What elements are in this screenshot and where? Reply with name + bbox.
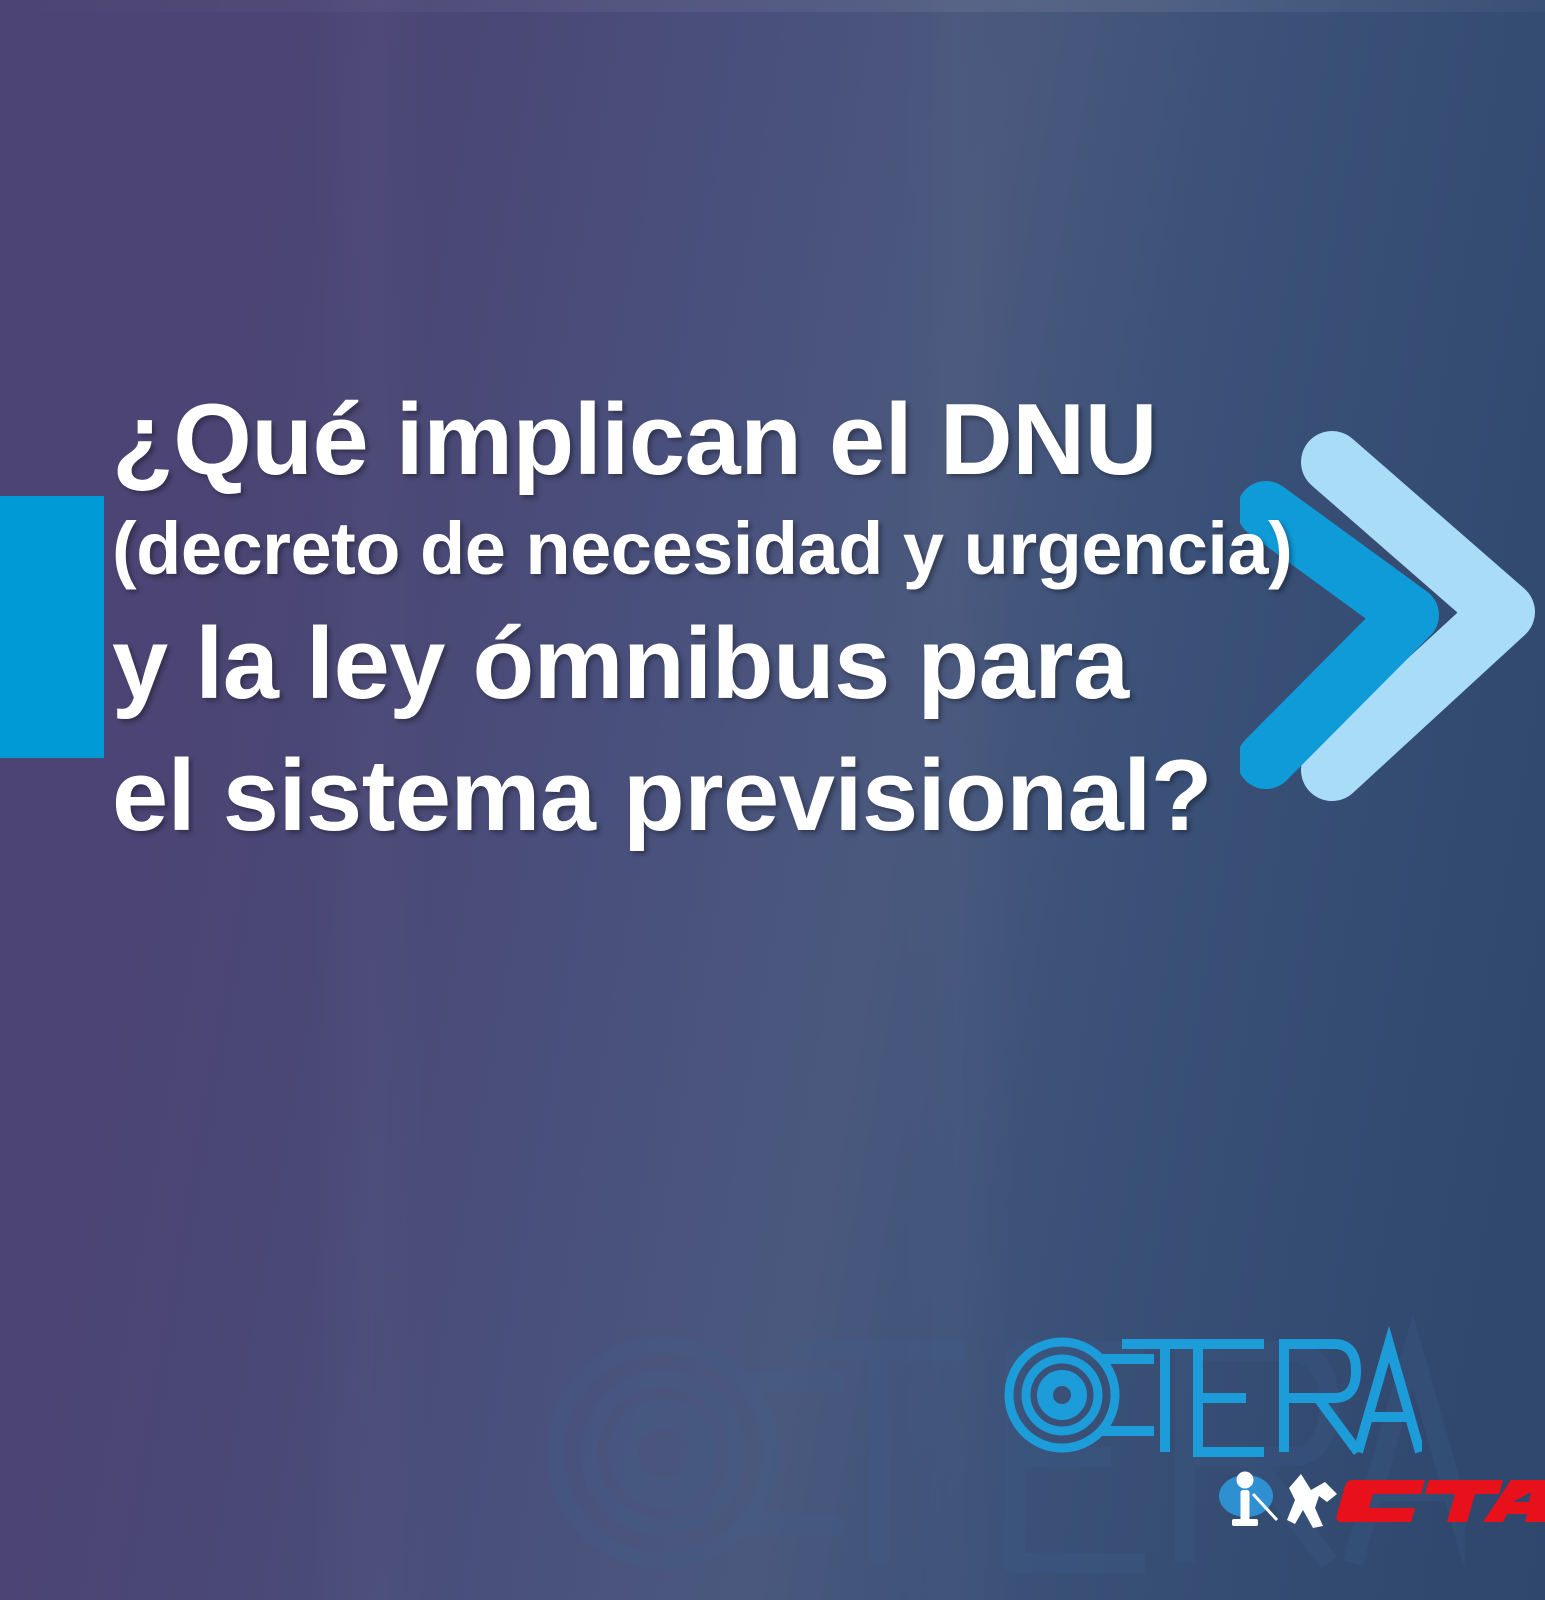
poster-canvas: ¿Qué implican el DNU (decreto de necesid… [0,0,1545,1600]
headline-line-3: y la ley ómnibus para [112,598,1402,730]
top-highlight-band [0,0,1545,12]
page-title: ¿Qué implican el DNU (decreto de necesid… [112,380,1402,862]
left-accent-bar [0,496,104,758]
ctera-logo [1002,1312,1422,1477]
headline-line-4: el sistema previsional? [112,730,1402,862]
cta-union-logo-icon [1215,1468,1545,1532]
headline-line-1: ¿Qué implican el DNU [112,380,1402,500]
headline-line-2: (decreto de necesidad y urgencia) [112,500,1402,598]
